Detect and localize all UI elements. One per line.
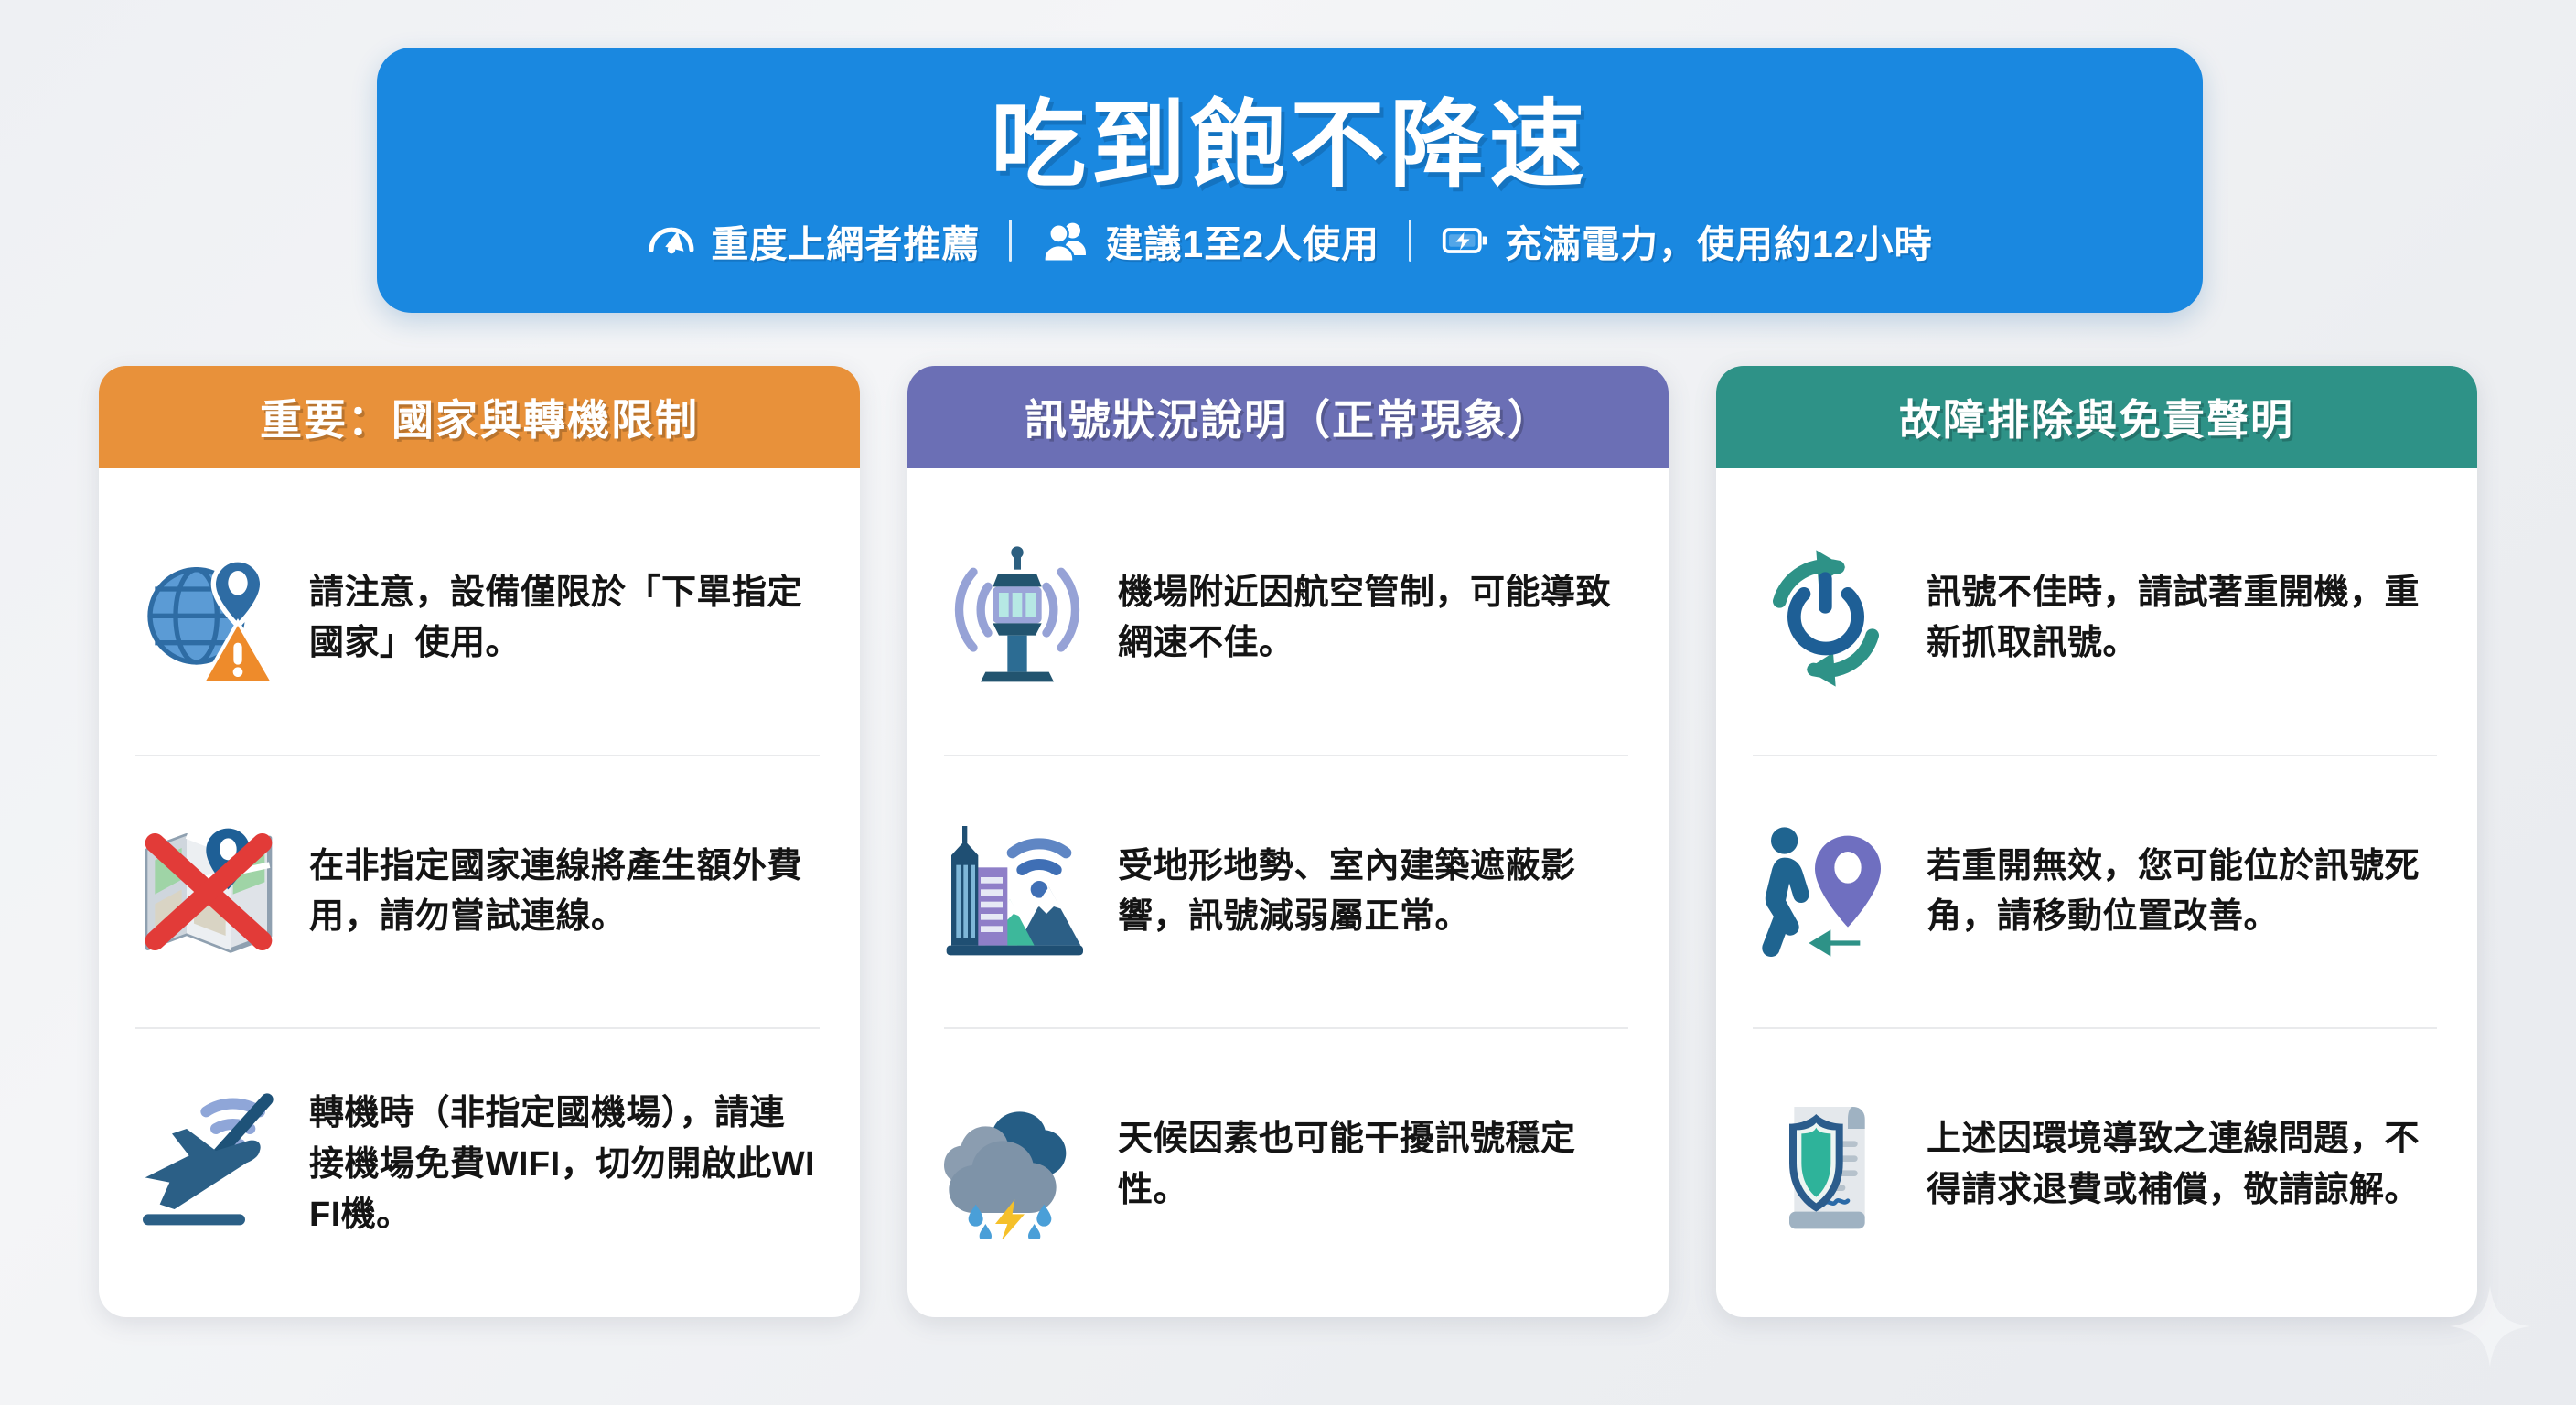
list-item-text: 請注意，設備僅限於「下單指定國家」使用。 [309, 568, 820, 670]
list-item-text: 在非指定國家連線將產生額外費用，請勿嘗試連線。 [309, 842, 820, 943]
feature-divider [1009, 220, 1012, 262]
header-banner: 吃到飽不降速 重度上網者推薦 [377, 48, 2203, 313]
airplane-no-wifi-icon [135, 1092, 282, 1239]
map-crossed-out-icon [135, 819, 282, 965]
card-country-restrictions: 重要：國家與轉機限制 [99, 366, 860, 1317]
list-item: 轉機時（非指定國機場），請連接機場免費WIFI，切勿開啟此WIFI機。 [135, 1027, 820, 1301]
list-item-text: 機場附近因航空管制，可能導致網速不佳。 [1118, 568, 1628, 670]
feature-label: 充滿電力，使用約12小時 [1505, 213, 1933, 268]
battery-charging-icon [1441, 216, 1490, 265]
walking-person-pin-icon [1753, 819, 1899, 965]
list-item-text: 若重開無效，您可能位於訊號死角，請移動位置改善。 [1927, 842, 2437, 943]
list-item: 機場附近因航空管制，可能導致網速不佳。 [944, 483, 1628, 755]
banner-feature-row: 重度上網者推薦 建議1至2人使用 [623, 213, 1956, 268]
list-item: 受地形地勢、室內建築遮蔽影響，訊號減弱屬正常。 [944, 755, 1628, 1028]
storm-cloud-rain-icon [944, 1092, 1090, 1239]
power-restart-icon [1753, 545, 1899, 692]
list-item-text: 天候因素也可能干擾訊號穩定性。 [1118, 1114, 1628, 1216]
infographic-page: 吃到飽不降速 重度上網者推薦 [0, 0, 2576, 1405]
feature-heavy-user: 重度上網者推薦 [623, 213, 1004, 268]
feature-label: 重度上網者推薦 [711, 213, 980, 268]
users-icon [1041, 216, 1090, 265]
list-item: 請注意，設備僅限於「下單指定國家」使用。 [135, 483, 820, 755]
feature-battery-life: 充滿電力，使用約12小時 [1417, 213, 1957, 268]
card-troubleshooting: 故障排除與免責聲明 訊號不佳時，請試著重開機，重新抓取訊號。 [1716, 366, 2477, 1317]
list-item: 若重開無效，您可能位於訊號死角，請移動位置改善。 [1753, 755, 2437, 1028]
card-body: 訊號不佳時，請試著重開機，重新抓取訊號。 若重開無效，您可能位於訊 [1716, 468, 2477, 1317]
speedometer-icon [647, 216, 696, 265]
feature-user-count: 建議1至2人使用 [1017, 213, 1403, 268]
card-header-title: 重要：國家與轉機限制 [99, 366, 860, 468]
list-item: 上述因環境導致之連線問題，不得請求退費或補償，敬請諒解。 [1753, 1027, 2437, 1301]
feature-label: 建議1至2人使用 [1105, 213, 1379, 268]
list-item-text: 轉機時（非指定國機場），請連接機場免費WIFI，切勿開啟此WIFI機。 [309, 1089, 820, 1240]
card-signal-status: 訊號狀況說明（正常現象） [907, 366, 1669, 1317]
shield-document-icon [1753, 1092, 1899, 1239]
card-header-title: 故障排除與免責聲明 [1716, 366, 2477, 468]
feature-divider [1409, 220, 1411, 262]
list-item: 在非指定國家連線將產生額外費用，請勿嘗試連線。 [135, 755, 820, 1028]
card-grid: 重要：國家與轉機限制 [99, 366, 2477, 1317]
banner-title: 吃到飽不降速 [991, 92, 1589, 198]
list-item-text: 受地形地勢、室內建築遮蔽影響，訊號減弱屬正常。 [1118, 842, 1628, 943]
list-item-text: 訊號不佳時，請試著重開機，重新抓取訊號。 [1927, 568, 2437, 670]
globe-pin-warning-icon [135, 545, 282, 692]
buildings-mountains-wifi-icon [944, 819, 1090, 965]
list-item-text: 上述因環境導致之連線問題，不得請求退費或補償，敬請諒解。 [1927, 1114, 2437, 1216]
control-tower-signal-icon [944, 545, 1090, 692]
card-body: 請注意，設備僅限於「下單指定國家」使用。 [99, 468, 860, 1317]
card-header-title: 訊號狀況說明（正常現象） [907, 366, 1669, 468]
list-item: 天候因素也可能干擾訊號穩定性。 [944, 1027, 1628, 1301]
sparkle-decoration [2446, 1282, 2534, 1370]
list-item: 訊號不佳時，請試著重開機，重新抓取訊號。 [1753, 483, 2437, 755]
card-body: 機場附近因航空管制，可能導致網速不佳。 [907, 468, 1669, 1317]
